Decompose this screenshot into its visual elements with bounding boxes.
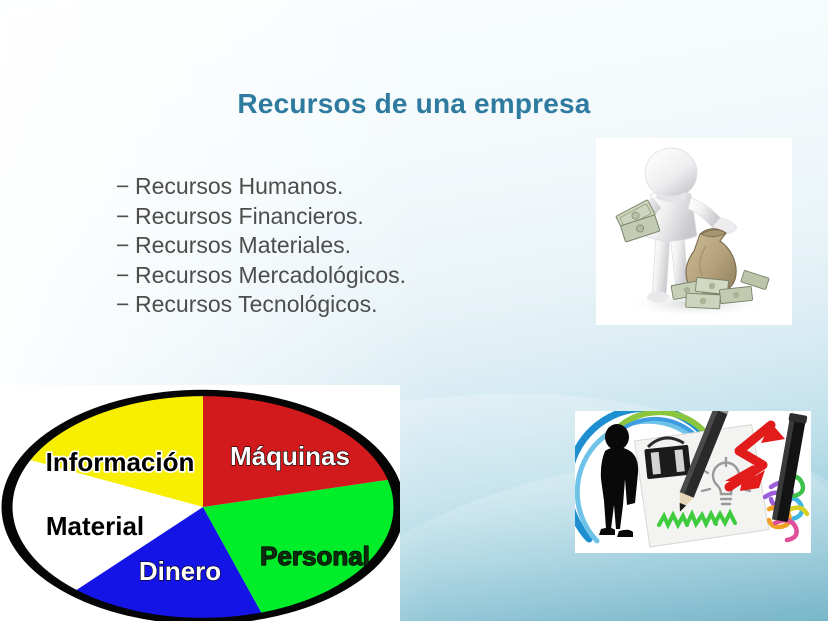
bullet-item-label: Recursos Mercadológicos. [135, 261, 406, 291]
bullet-item-0: − Recursos Humanos. [116, 172, 536, 202]
bullet-item-label: Recursos Materiales. [135, 231, 351, 261]
pie-slice-label-informacion: Información [46, 447, 195, 477]
slide-title: Recursos de una empresa [60, 88, 768, 120]
pie-slice-label-personal: Personal [260, 541, 370, 571]
bullet-item-3: − Recursos Mercadológicos. [116, 261, 536, 291]
pie-slice-label-dinero: Dinero [139, 556, 221, 586]
dash-bullet-icon: − [116, 172, 135, 202]
dash-bullet-icon: − [116, 231, 135, 261]
bullet-list: − Recursos Humanos. − Recursos Financier… [116, 172, 536, 320]
bullet-item-label: Recursos Tecnológicos. [135, 290, 377, 320]
bullet-item-4: − Recursos Tecnológicos. [116, 290, 536, 320]
business-ideas-collage-image [575, 411, 811, 553]
dash-bullet-icon: − [116, 202, 135, 232]
3d-figure-with-money-image [596, 138, 792, 325]
bullet-item-label: Recursos Humanos. [135, 172, 343, 202]
bullet-item-2: − Recursos Materiales. [116, 231, 536, 261]
slide-canvas: Recursos de una empresa − Recursos Human… [0, 0, 828, 621]
bullet-item-label: Recursos Financieros. [135, 202, 364, 232]
dash-bullet-icon: − [116, 261, 135, 291]
dash-bullet-icon: − [116, 290, 135, 320]
pie-slice-label-material: Material [46, 511, 144, 541]
pie-slice-label-maquinas: Máquinas [230, 441, 350, 471]
resources-pie-chart-image: Información Máquinas Personal Dinero Mat… [0, 385, 400, 621]
bullet-item-1: − Recursos Financieros. [116, 202, 536, 232]
